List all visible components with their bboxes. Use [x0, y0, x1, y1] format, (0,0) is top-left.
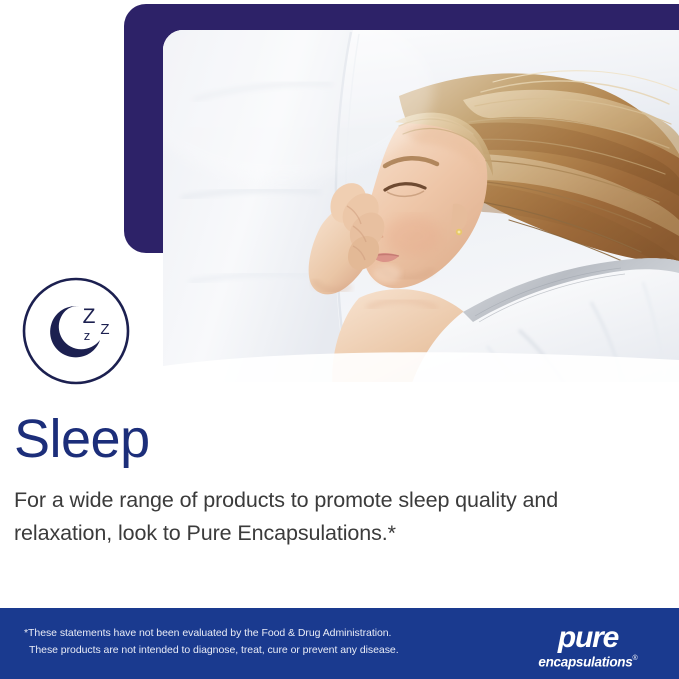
- svg-text:Z: Z: [83, 305, 96, 328]
- footer-bar: *These statements have not been evaluate…: [0, 608, 679, 679]
- brand-subtitle-wrap: encapsulations®: [515, 651, 661, 669]
- page-subtitle: For a wide range of products to promote …: [14, 484, 644, 550]
- content-block: Sleep For a wide range of products to pr…: [14, 408, 664, 550]
- disclaimer-line-2: These products are not intended to diagn…: [24, 642, 464, 659]
- brand-name: pure: [515, 624, 661, 651]
- svg-text:z: z: [84, 328, 91, 343]
- page-title: Sleep: [14, 408, 664, 470]
- sleeping-woman-photo: [163, 30, 679, 392]
- svg-text:Z: Z: [100, 321, 109, 338]
- moon-zzz-icon: Z Z z: [21, 276, 131, 386]
- registered-trademark-icon: ®: [632, 655, 637, 662]
- brand-subtitle: encapsulations: [538, 654, 632, 669]
- pure-encapsulations-logo[interactable]: pure encapsulations®: [515, 624, 661, 668]
- disclaimer-line-1: *These statements have not been evaluate…: [24, 627, 391, 639]
- fda-disclaimer: *These statements have not been evaluate…: [24, 625, 464, 659]
